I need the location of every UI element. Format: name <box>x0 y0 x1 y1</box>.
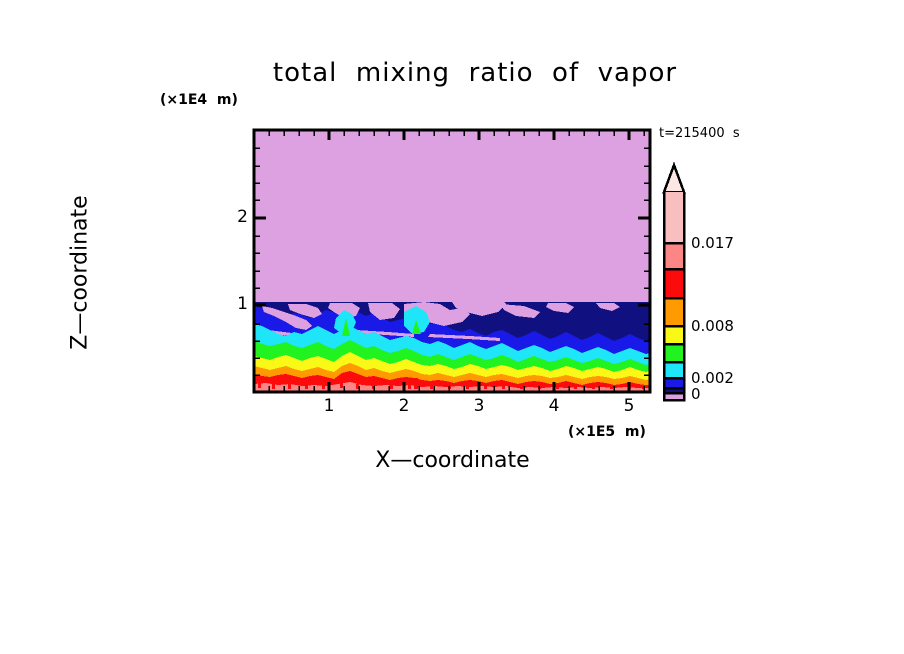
colorbar-tick-label: 0.017 <box>691 234 734 252</box>
x-axis-unit-label: (×1E5 m) <box>568 424 646 440</box>
contour-plot <box>0 0 904 654</box>
colorbar-band-0004 <box>664 362 684 378</box>
colorbar-tick-label: 0 <box>691 385 701 403</box>
y-axis-title: Z—coordinate <box>68 153 93 393</box>
y-tick-label: 1 <box>224 294 248 314</box>
colorbar-tick-label: 0.008 <box>691 317 734 335</box>
x-tick-label: 2 <box>389 396 419 416</box>
x-tick-label: 4 <box>539 396 569 416</box>
x-tick-label: 5 <box>614 396 644 416</box>
colorbar-band-0012 <box>664 298 684 326</box>
colorbar-top-arrow <box>664 165 684 192</box>
x-tick-label: 3 <box>464 396 494 416</box>
x-axis-title: X—coordinate <box>255 448 650 473</box>
y-tick-label: 2 <box>224 207 248 227</box>
colorbar-band-0006 <box>664 344 684 362</box>
figure-canvas: total mixing ratio of vapor (×1E4 m) t=2… <box>0 0 904 654</box>
colorbar-band-0008 <box>664 326 684 344</box>
colorbar-band-0019 <box>664 192 684 243</box>
colorbar-band-0015 <box>664 269 684 298</box>
colorbar <box>664 165 684 400</box>
x-tick-label: 1 <box>314 396 344 416</box>
colorbar-band-0017 <box>664 243 684 269</box>
colorbar-band-0002 <box>664 378 684 388</box>
